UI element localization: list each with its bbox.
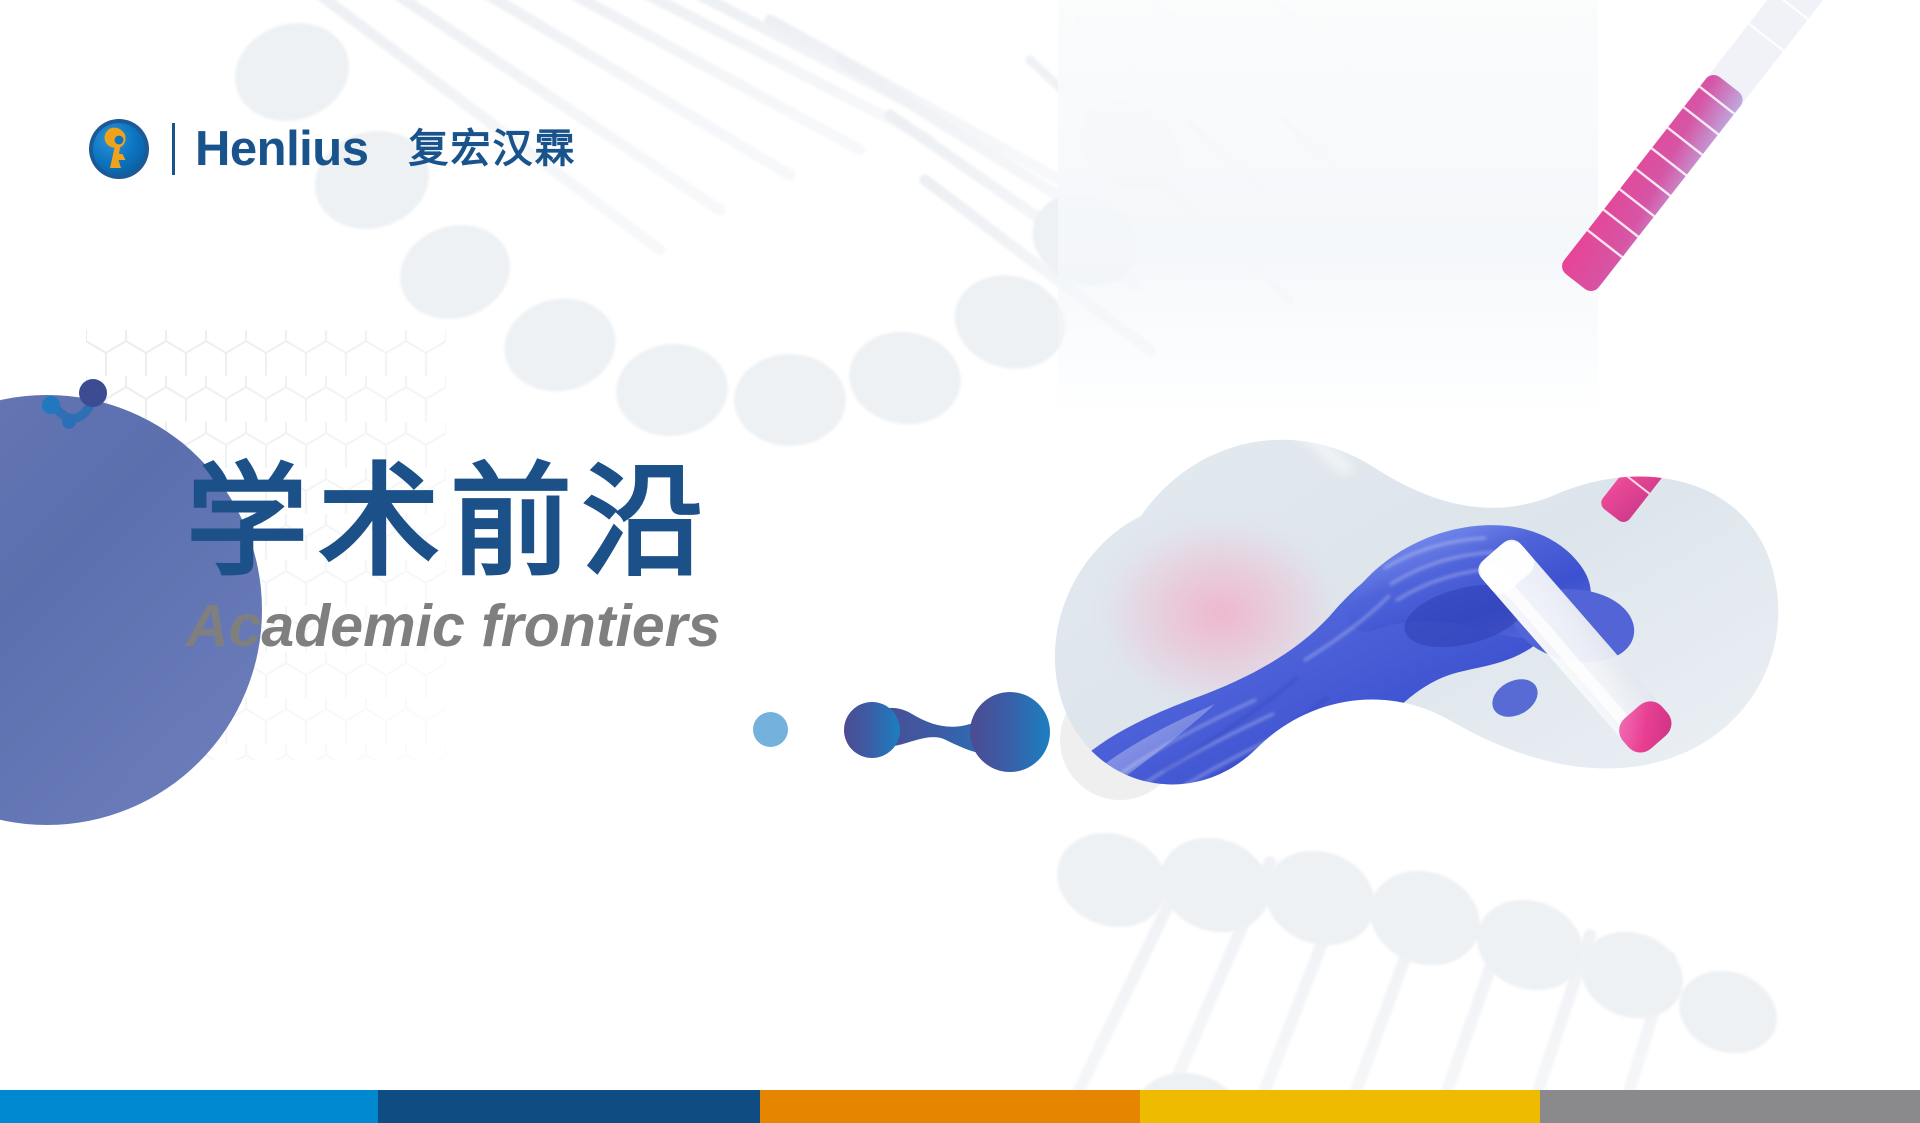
small-molecule-icon [38, 378, 110, 434]
light-blue-dot [753, 712, 788, 747]
title-block: 学术前沿 Academic frontiers [186, 458, 720, 660]
bar-segment-light-blue [0, 1090, 378, 1123]
bar-segment-orange [760, 1090, 1140, 1123]
logo-wordmark: Henlius [195, 125, 368, 174]
bar-segment-gray [1540, 1090, 1920, 1123]
henlius-logo-mark-icon [88, 118, 150, 180]
page-title-chinese: 学术前沿 [186, 458, 720, 586]
paper-sheet-backdrop [1058, 0, 1598, 420]
hero-photo [1045, 398, 1785, 838]
bar-segment-yellow [1140, 1090, 1540, 1123]
brand-logo[interactable]: Henlius 复宏汉霖 [88, 118, 576, 180]
page-subtitle-english: Academic frontiers [186, 592, 720, 660]
bottom-color-bar [0, 1090, 1920, 1123]
logo-divider [172, 123, 175, 175]
slide-canvas: Henlius 复宏汉霖 学术前沿 Academic frontiers [0, 0, 1920, 1123]
bar-segment-dark-blue [378, 1090, 760, 1123]
logo-chinese-name: 复宏汉霖 [408, 129, 576, 169]
dumbbell-molecule-icon [840, 688, 1055, 773]
